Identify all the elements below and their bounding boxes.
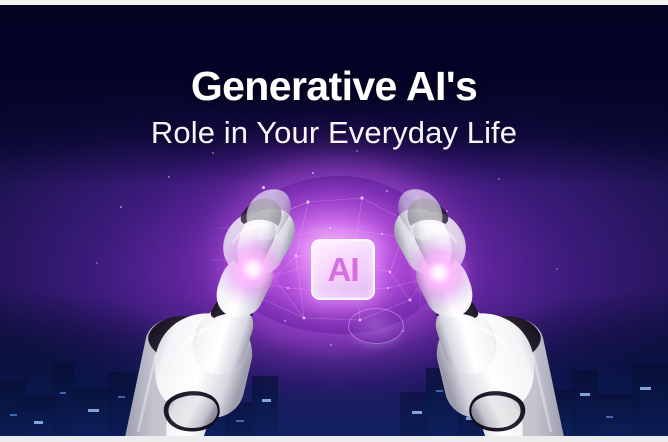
ai-chip-label: AI	[328, 253, 359, 286]
ai-banner-image: AI Generative AI's Role in Your Everyday…	[0, 0, 668, 442]
robot-thumb-right	[471, 395, 520, 428]
particle	[356, 150, 358, 152]
robot-hand-left	[116, 186, 296, 442]
particle	[330, 344, 332, 346]
ai-chip: AI	[311, 239, 375, 300]
image-bottom-border	[0, 436, 668, 442]
particle	[312, 172, 314, 174]
robot-hand-right	[390, 186, 576, 442]
headline-block: Generative AI's Role in Your Everyday Li…	[0, 0, 668, 149]
page-title: Generative AI's	[0, 0, 668, 108]
particle	[168, 176, 170, 178]
particle	[212, 152, 214, 154]
particle	[386, 190, 388, 192]
particle	[96, 262, 98, 264]
page-subtitle: Role in Your Everyday Life	[0, 117, 668, 150]
robot-thumb-left	[168, 395, 217, 428]
particle	[498, 178, 500, 180]
image-top-border	[0, 0, 668, 5]
